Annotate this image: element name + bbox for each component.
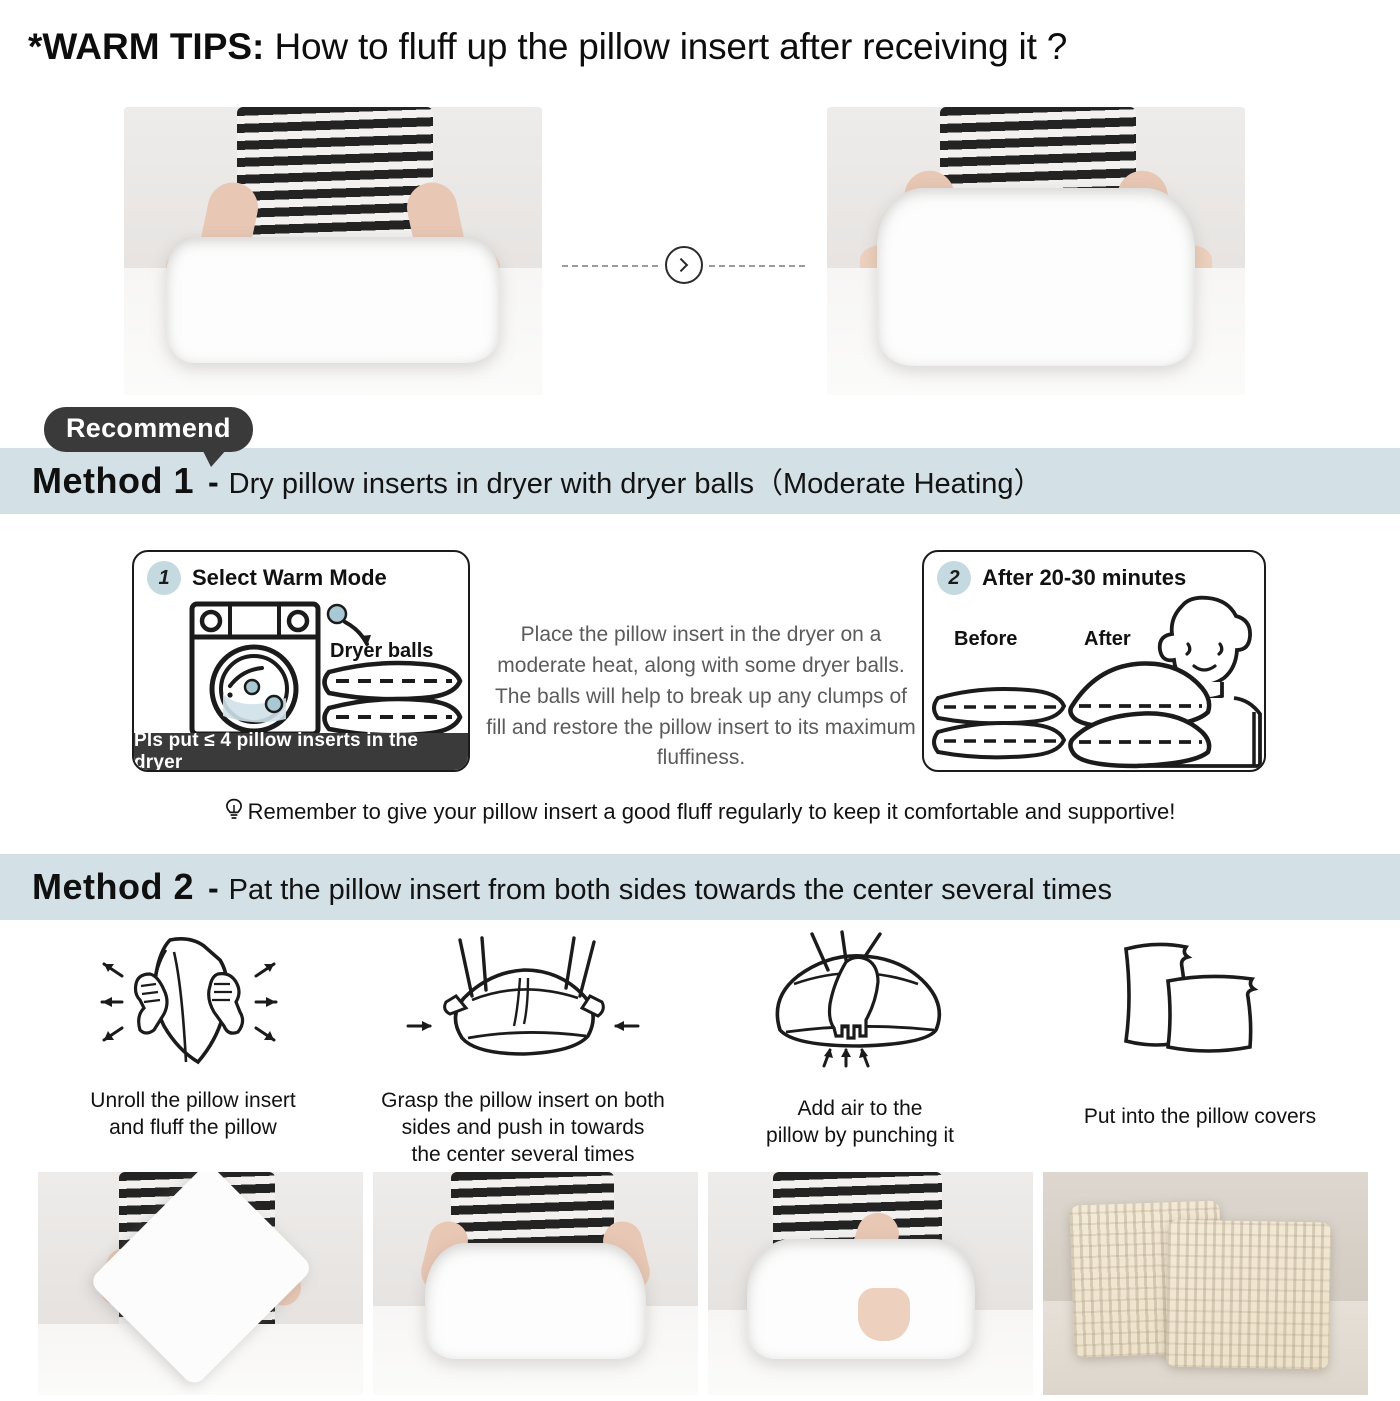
method-2-captions: Unroll the pillow insert and fluff the p… [0, 1088, 1400, 1158]
step-1-heading: Select Warm Mode [192, 565, 387, 591]
infographic-page: *WARM TIPS: How to fluff up the pillow i… [0, 0, 1400, 1401]
fluffed-pillow-insert [877, 188, 1195, 367]
photo-punch-pillow [708, 1172, 1033, 1395]
hands-unroll-pillow-icon [38, 930, 348, 1070]
method-1-description: Dry pillow inserts in dryer with dryer b… [229, 460, 1043, 502]
step-2-card: 2 After 20-30 minutes Before After [922, 550, 1266, 772]
step-caption-2: Grasp the pillow insert on both sides an… [350, 1088, 696, 1169]
step-caption-4: Put into the pillow covers [1030, 1104, 1370, 1131]
lightbulb-icon [225, 798, 243, 828]
method-1-paragraph: Place the pillow insert in the dryer on … [486, 620, 916, 774]
hand [858, 1288, 910, 1342]
method-1-dash: - [208, 464, 219, 501]
page-title: *WARM TIPS: How to fluff up the pillow i… [28, 26, 1067, 68]
method-2-band: Method 2 - Pat the pillow insert from bo… [0, 854, 1400, 920]
dryer-balls-label: Dryer balls [330, 640, 433, 663]
connector-dashes-right [709, 265, 805, 267]
flat-pillow-insert [166, 237, 500, 364]
photo-push-pillow [373, 1172, 698, 1395]
page-title-rest: How to fluff up the pillow insert after … [264, 26, 1067, 67]
before-after-illustration [924, 594, 1266, 772]
method-2-label: Method 2 [32, 866, 194, 908]
hero-photo-after [827, 107, 1245, 395]
step-2-heading: After 20-30 minutes [982, 565, 1186, 591]
step-1-footer-note: Pls put ≤ 4 pillow inserts in the dryer [134, 733, 468, 770]
step-1-number-badge: 1 [147, 561, 181, 595]
photo-pillow-covers [1043, 1172, 1368, 1395]
step-caption-3: Add air to the pillow by punching it [700, 1096, 1020, 1150]
connector-dashes-left [562, 265, 658, 267]
hero-photo-before [124, 107, 542, 395]
method-2-photo-strip [38, 1172, 1368, 1395]
fluff-reminder-note: Remember to give your pillow insert a go… [0, 798, 1400, 828]
recommend-badge: Recommend [44, 407, 253, 452]
fluff-reminder-text: Remember to give your pillow insert a go… [248, 799, 1176, 824]
page-title-strong: *WARM TIPS: [28, 26, 264, 67]
pillow-cover-front [1165, 1220, 1330, 1370]
method-2-icons [0, 930, 1400, 1090]
method-1-label: Method 1 [32, 460, 194, 502]
chevron-right-circle-icon [665, 246, 703, 284]
method-2-dash: - [208, 870, 219, 907]
before-after-connector [556, 235, 811, 295]
hands-push-pillow-icon [350, 930, 696, 1070]
method-2-description: Pat the pillow insert from both sides to… [229, 874, 1112, 907]
step-1-card: 1 Select Warm Mode [132, 550, 470, 772]
two-pillows-icon [1030, 930, 1370, 1070]
pillow-insert [425, 1243, 646, 1359]
step-caption-1: Unroll the pillow insert and fluff the p… [38, 1088, 348, 1142]
photo-unroll-pillow [38, 1172, 363, 1395]
step-2-number-badge: 2 [937, 561, 971, 595]
method-1-content: 1 Select Warm Mode [0, 528, 1400, 828]
hand-punch-pillow-icon [700, 930, 1020, 1070]
